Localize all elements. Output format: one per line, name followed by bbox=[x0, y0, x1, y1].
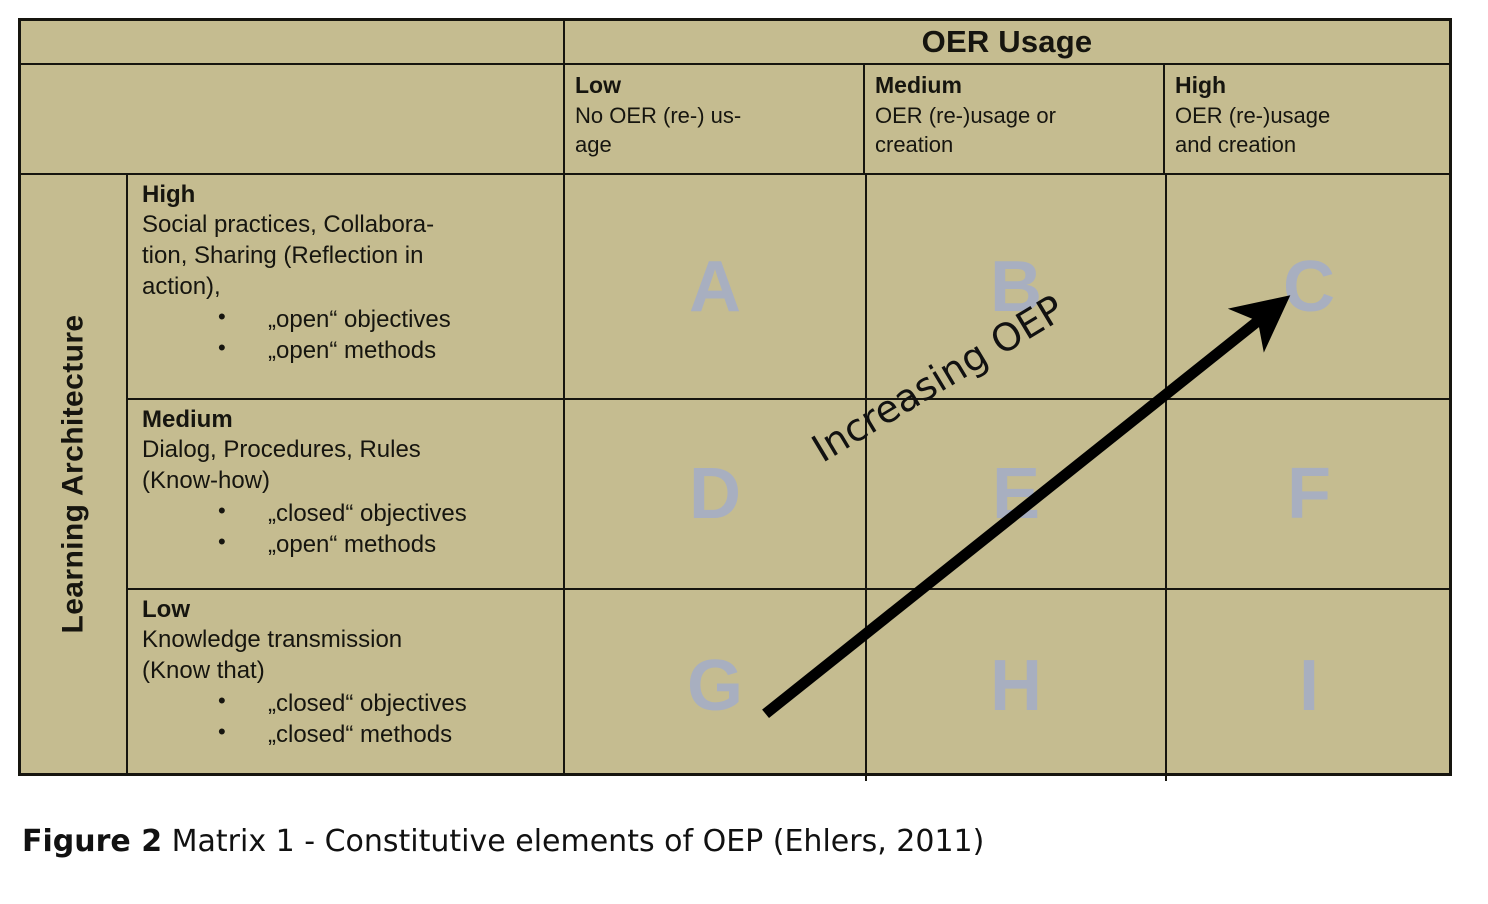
matrix-body: Learning Architecture High Social practi… bbox=[21, 173, 1449, 773]
corner-blank-cell bbox=[21, 21, 563, 63]
row-header-high: High Social practices, Collabora- tion, … bbox=[126, 175, 563, 398]
column-axis-title: OER Usage bbox=[563, 21, 1449, 63]
column-header-blank-cell bbox=[21, 65, 563, 175]
matrix-cell-grid: A B C D E F G H I bbox=[563, 175, 1449, 773]
oep-matrix-table: OER Usage Low No OER (re-) us- age Mediu… bbox=[18, 18, 1452, 776]
matrix-cell-C: C bbox=[1165, 175, 1451, 398]
matrix-cell-A: A bbox=[565, 175, 865, 398]
row-header-medium-level: Medium bbox=[142, 404, 557, 435]
row-header-low: Low Knowledge transmission (Know that) „… bbox=[126, 588, 563, 781]
row-header-low-description: Knowledge transmission (Know that) bbox=[142, 625, 557, 687]
figure-caption-text: Matrix 1 - Constitutive elements of OEP … bbox=[162, 824, 984, 859]
matrix-cell-H: H bbox=[865, 588, 1165, 781]
matrix-column-header-band: Low No OER (re-) us- age Medium OER (re-… bbox=[21, 63, 1449, 175]
column-header-medium-description: OER (re-)usage or creation bbox=[875, 101, 1155, 159]
matrix-cell-G: G bbox=[565, 588, 865, 781]
row-header-medium-description: Dialog, Procedures, Rules (Know-how) bbox=[142, 435, 557, 497]
row-axis-title: Learning Architecture bbox=[57, 314, 91, 633]
figure-caption-label: Figure 2 bbox=[22, 824, 162, 859]
row-header-medium-bullets: „closed“ objectives „open“ methods bbox=[142, 498, 557, 560]
column-header-medium-level: Medium bbox=[875, 71, 1155, 100]
list-item: „open“ methods bbox=[218, 529, 557, 560]
list-item: „open“ methods bbox=[218, 335, 557, 366]
column-header-medium: Medium OER (re-)usage or creation bbox=[863, 65, 1163, 175]
column-header-high-description: OER (re-)usage and creation bbox=[1175, 101, 1441, 159]
list-item: „closed“ objectives bbox=[218, 688, 557, 719]
row-header-low-level: Low bbox=[142, 594, 557, 625]
matrix-top-header-band: OER Usage bbox=[21, 21, 1449, 63]
matrix-cell-B: B bbox=[865, 175, 1165, 398]
list-item: „closed“ objectives bbox=[218, 498, 557, 529]
list-item: „closed“ methods bbox=[218, 719, 557, 750]
matrix-cell-E: E bbox=[865, 398, 1165, 588]
row-header-high-bullets: „open“ objectives „open“ methods bbox=[142, 304, 557, 366]
column-header-high-level: High bbox=[1175, 71, 1441, 100]
row-header-high-description: Social practices, Collabora- tion, Shari… bbox=[142, 210, 557, 303]
row-header-low-bullets: „closed“ objectives „closed“ methods bbox=[142, 688, 557, 750]
matrix-cell-I: I bbox=[1165, 588, 1451, 781]
column-header-low-description: No OER (re-) us- age bbox=[575, 101, 855, 159]
column-header-low-level: Low bbox=[575, 71, 855, 100]
row-header-high-level: High bbox=[142, 179, 557, 210]
column-header-high: High OER (re-)usage and creation bbox=[1163, 65, 1449, 175]
row-axis-title-strip: Learning Architecture bbox=[21, 175, 128, 773]
row-header-medium: Medium Dialog, Procedures, Rules (Know-h… bbox=[126, 398, 563, 588]
column-header-low: Low No OER (re-) us- age bbox=[563, 65, 863, 175]
matrix-cell-F: F bbox=[1165, 398, 1451, 588]
list-item: „open“ objectives bbox=[218, 304, 557, 335]
figure-caption: Figure 2 Matrix 1 - Constitutive element… bbox=[22, 824, 984, 859]
figure-container: OER Usage Low No OER (re-) us- age Mediu… bbox=[0, 0, 1488, 904]
